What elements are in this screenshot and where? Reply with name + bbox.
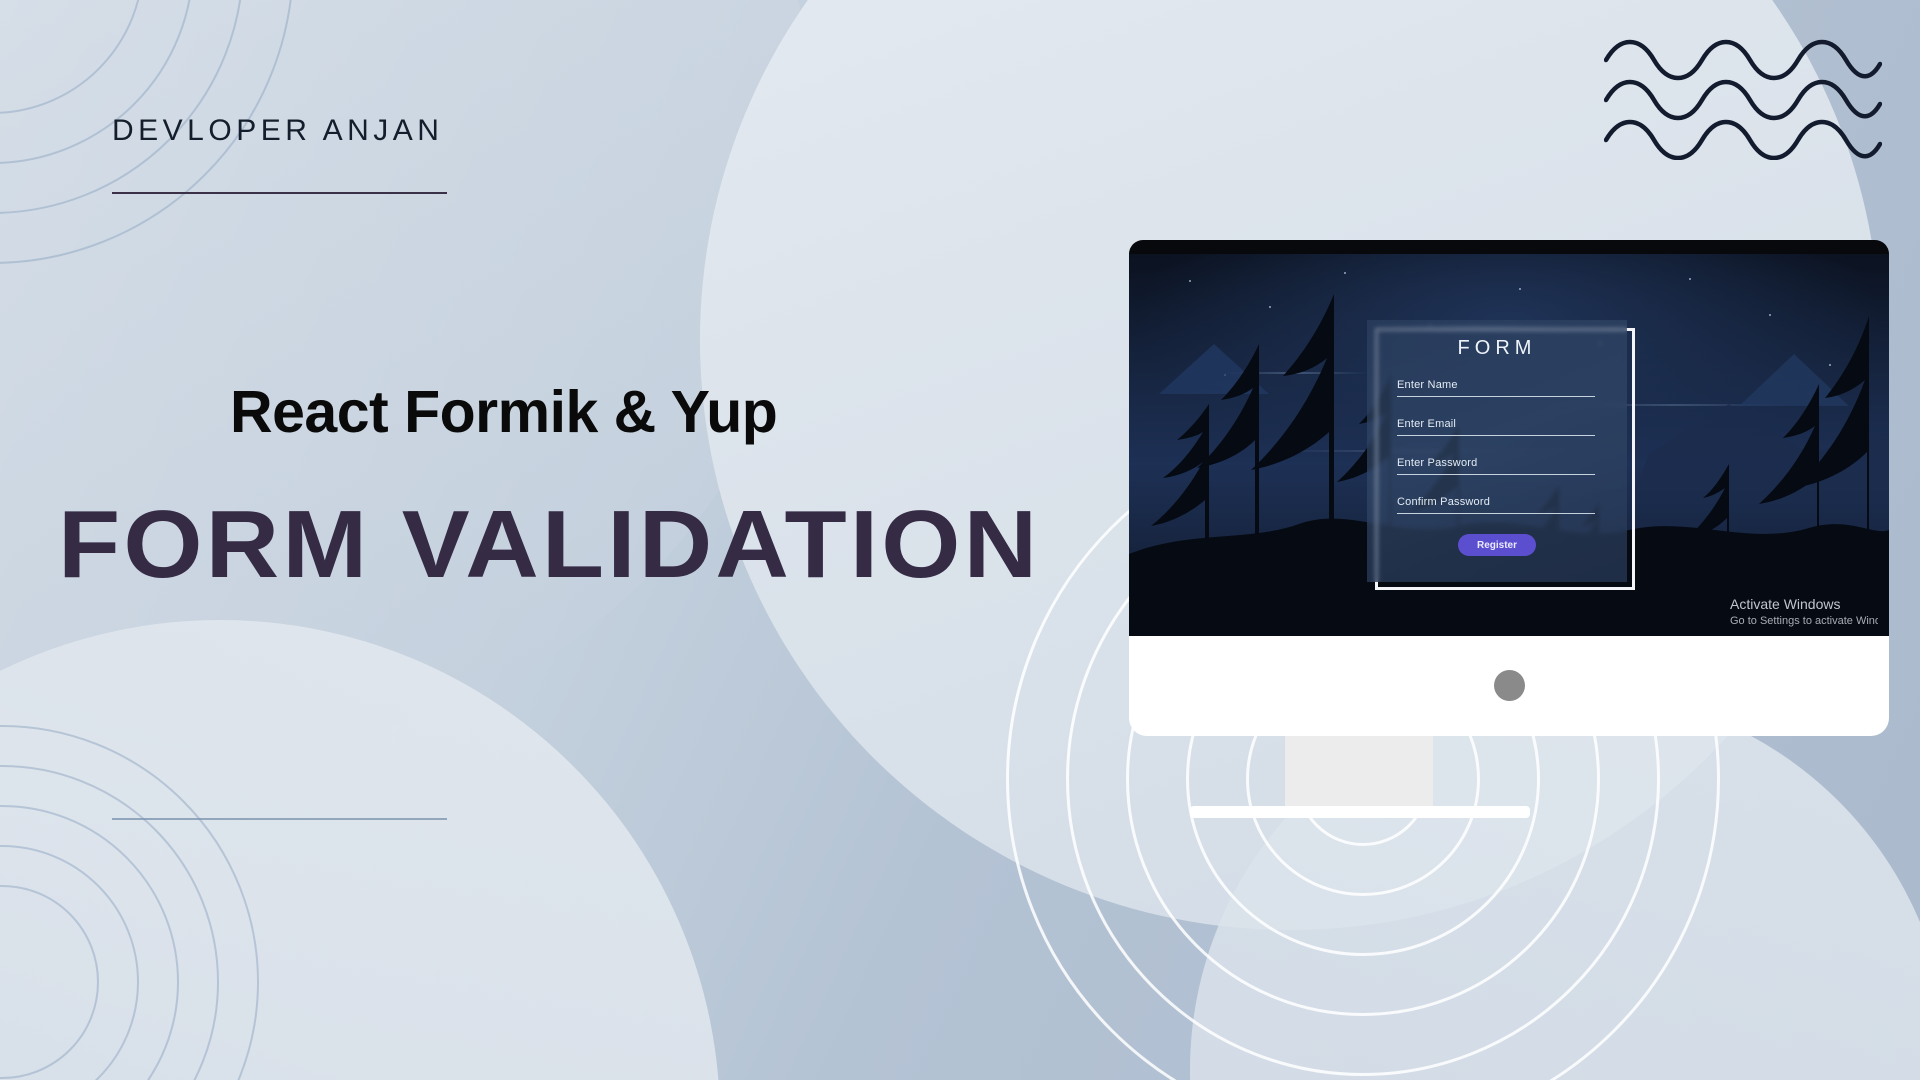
- brand-underline-rule: [112, 192, 447, 194]
- slide-canvas: DEVLOPER ANJAN React Formik & Yup FORM V…: [0, 0, 1920, 1080]
- monitor-logo-dot: [1494, 670, 1525, 701]
- field-label-email: Enter Email: [1397, 418, 1595, 430]
- field-underline-confirm-password: [1397, 513, 1595, 514]
- field-label-name: Enter Name: [1397, 379, 1595, 391]
- field-underline-password: [1397, 474, 1595, 475]
- page-title: FORM VALIDATION: [58, 490, 1040, 600]
- form-field-name[interactable]: Enter Name: [1397, 379, 1595, 397]
- windows-activation-watermark: Activate Windows Go to Settings to activ…: [1730, 596, 1880, 628]
- decorative-circle-bottom-left: [0, 620, 720, 1080]
- monitor-stand-neck: [1285, 736, 1433, 814]
- register-button[interactable]: Register: [1458, 534, 1536, 556]
- registration-form-card: FORM Enter Name Enter Email Enter Passwo…: [1367, 320, 1627, 582]
- wavy-lines-decoration: [1604, 38, 1882, 160]
- brand-eyebrow: DEVLOPER ANJAN: [112, 114, 443, 148]
- subtitle-heading: React Formik & Yup: [230, 378, 777, 446]
- field-underline-name: [1397, 396, 1595, 397]
- monitor-stand-base: [1190, 806, 1530, 818]
- form-heading: FORM: [1367, 337, 1627, 360]
- wave-icon: [1604, 38, 1882, 160]
- field-underline-email: [1397, 435, 1595, 436]
- field-label-confirm-password: Confirm Password: [1397, 496, 1595, 508]
- form-field-password[interactable]: Enter Password: [1397, 457, 1595, 475]
- decorative-circle-top-left: [0, 0, 820, 750]
- watermark-title: Activate Windows: [1730, 596, 1880, 614]
- watermark-subtitle: Go to Settings to activate Window: [1730, 614, 1878, 628]
- form-field-email[interactable]: Enter Email: [1397, 418, 1595, 436]
- field-label-password: Enter Password: [1397, 457, 1595, 469]
- bottom-divider-rule: [112, 818, 447, 820]
- form-field-confirm-password[interactable]: Confirm Password: [1397, 496, 1595, 514]
